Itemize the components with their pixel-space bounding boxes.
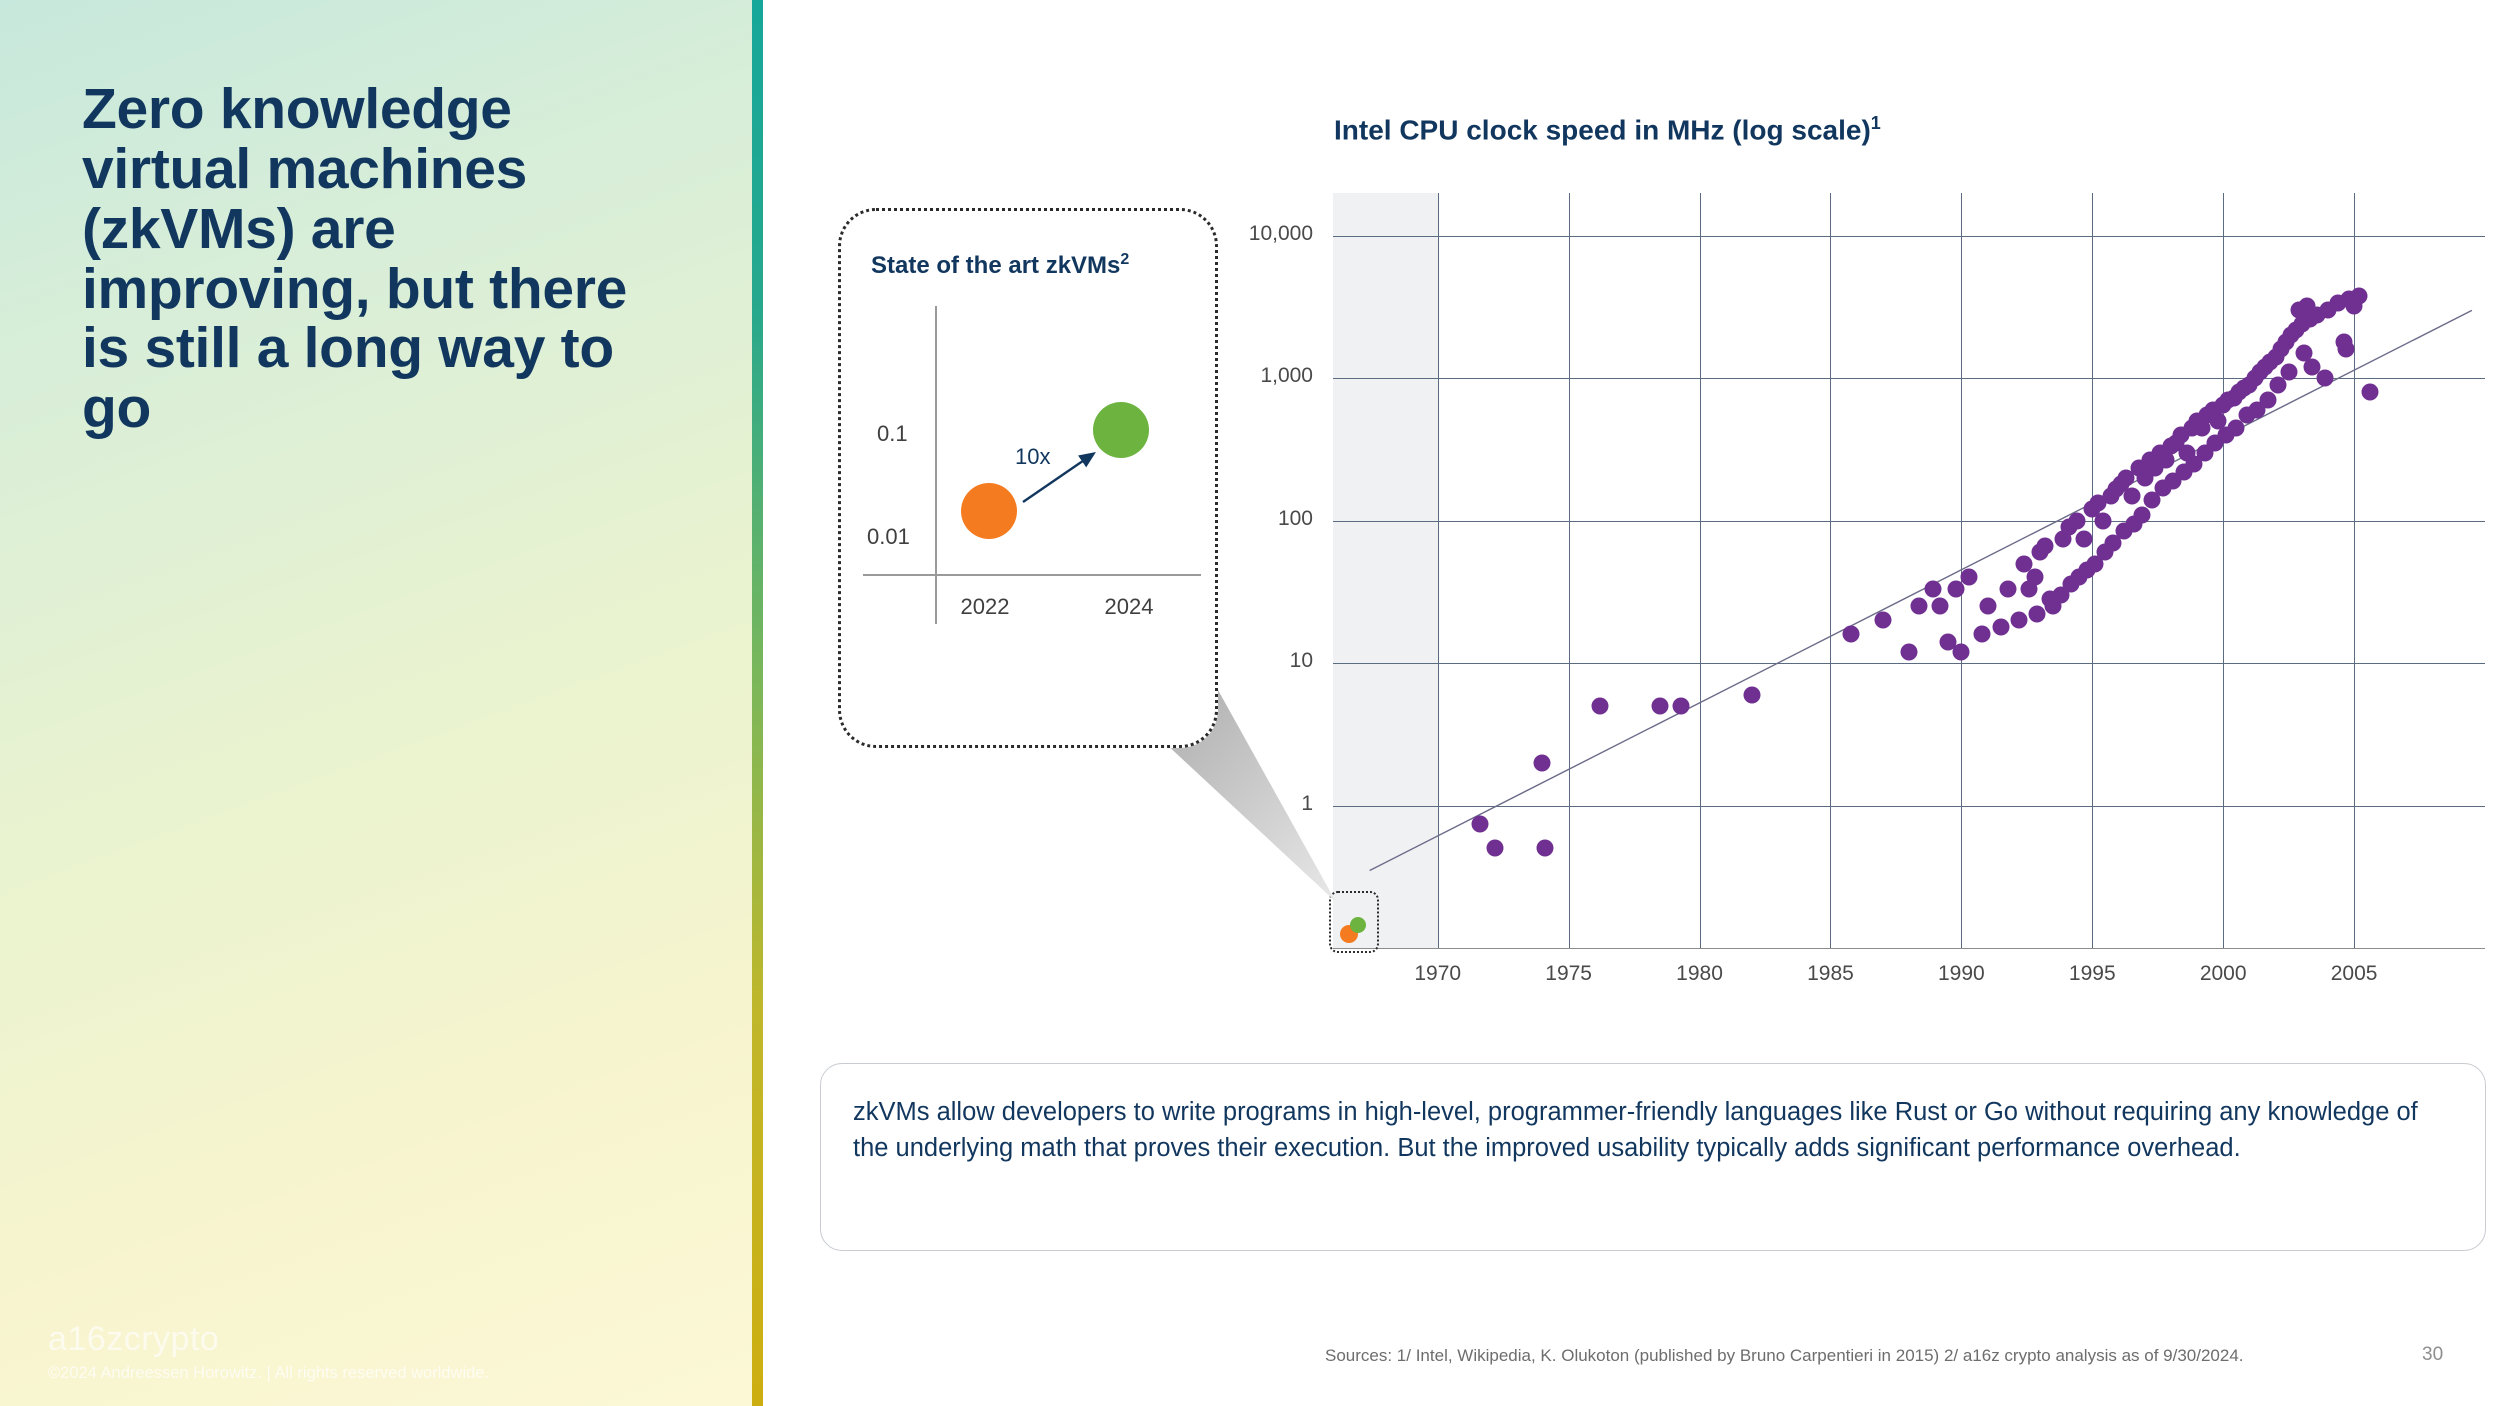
data-point bbox=[1924, 581, 1941, 598]
data-point bbox=[1940, 634, 1957, 651]
data-point bbox=[1592, 698, 1609, 715]
note-box: zkVMs allow developers to write programs… bbox=[820, 1063, 2486, 1251]
data-point bbox=[2144, 491, 2161, 508]
data-point bbox=[1652, 698, 1669, 715]
data-point bbox=[2346, 298, 2363, 315]
data-point bbox=[1992, 618, 2009, 635]
x-axis-tick-label: 1980 bbox=[1676, 962, 1723, 986]
chart-title: Intel CPU clock speed in MHz (log scale)… bbox=[1334, 113, 1881, 146]
x-axis-tick-label: 1995 bbox=[2069, 962, 2116, 986]
data-point bbox=[2361, 384, 2378, 401]
panel-divider-stripe bbox=[752, 0, 763, 1406]
x-axis-tick-label: 1990 bbox=[1938, 962, 1985, 986]
data-point bbox=[1974, 626, 1991, 643]
data-point bbox=[1843, 626, 1860, 643]
callout-box: State of the art zkVMs2 0.1 0.01 2022 20… bbox=[838, 208, 1218, 748]
data-point bbox=[2029, 606, 2046, 623]
x-axis-tick-label: 1985 bbox=[1807, 962, 1854, 986]
page-number: 30 bbox=[2422, 1344, 2443, 1366]
callout-title: State of the art zkVMs2 bbox=[871, 251, 1129, 280]
data-point bbox=[2076, 530, 2093, 547]
gridline-horizontal bbox=[1333, 378, 2485, 379]
callout-title-footnote-marker: 2 bbox=[1120, 251, 1129, 268]
data-point bbox=[2298, 298, 2315, 315]
gridline-horizontal bbox=[1333, 806, 2485, 807]
data-point bbox=[1534, 754, 1551, 771]
callout-title-text: State of the art zkVMs bbox=[871, 252, 1120, 279]
data-point bbox=[1743, 686, 1760, 703]
x-axis-tick-label: 2000 bbox=[2200, 962, 2247, 986]
data-point bbox=[2026, 569, 2043, 586]
x-axis-tick-label: 1975 bbox=[1545, 962, 1592, 986]
note-text: zkVMs allow developers to write programs… bbox=[853, 1094, 2453, 1166]
data-point bbox=[2338, 341, 2355, 358]
gridline-horizontal bbox=[1333, 236, 2485, 237]
data-point bbox=[1911, 598, 1928, 615]
data-point bbox=[1961, 569, 1978, 586]
sources-text: Sources: 1/ Intel, Wikipedia, K. Olukoto… bbox=[1325, 1346, 2244, 1366]
x-axis-labels: 19701975198019851990199520002005 bbox=[1333, 962, 2485, 1002]
gridline-vertical bbox=[1438, 193, 1439, 948]
left-panel: Zero knowledge virtual machines (zkVMs) … bbox=[0, 0, 752, 1406]
copyright-text: ©2024 Andreessen Horowitz. | All rights … bbox=[48, 1364, 489, 1383]
data-point bbox=[2094, 512, 2111, 529]
data-point bbox=[1979, 598, 1996, 615]
data-point bbox=[2037, 538, 2054, 555]
data-point bbox=[1948, 581, 1965, 598]
data-point bbox=[1673, 698, 1690, 715]
data-point bbox=[2010, 612, 2027, 629]
chart-title-text: Intel CPU clock speed in MHz (log scale) bbox=[1334, 114, 1871, 145]
data-point bbox=[2317, 370, 2334, 387]
y-axis-tick-label: 100 bbox=[1278, 507, 1313, 531]
y-axis-tick-label: 10 bbox=[1290, 649, 1313, 673]
page-title: Zero knowledge virtual machines (zkVMs) … bbox=[82, 80, 682, 439]
gridline-vertical bbox=[1700, 193, 1701, 948]
slide: Zero knowledge virtual machines (zkVMs) … bbox=[0, 0, 2500, 1406]
data-point bbox=[1537, 840, 1554, 857]
data-point bbox=[2000, 581, 2017, 598]
chart-title-footnote-marker: 1 bbox=[1871, 113, 1881, 133]
gridline-vertical bbox=[2223, 193, 2224, 948]
y-axis-tick-label: 10,000 bbox=[1249, 222, 1313, 246]
data-point bbox=[1932, 598, 1949, 615]
x-axis-tick-label: 1970 bbox=[1414, 962, 1461, 986]
data-point bbox=[2123, 487, 2140, 504]
data-point bbox=[2042, 591, 2059, 608]
data-point bbox=[2270, 376, 2287, 393]
inset-annotation-10x: 10x bbox=[1015, 444, 1050, 470]
data-point bbox=[1471, 816, 1488, 833]
inset-chart: 0.1 0.01 2022 2024 10x bbox=[863, 306, 1203, 641]
y-axis-tick-label: 1,000 bbox=[1260, 364, 1313, 388]
data-point bbox=[2296, 345, 2313, 362]
gridline-horizontal bbox=[1333, 521, 2485, 522]
data-point bbox=[1487, 840, 1504, 857]
gridline-vertical bbox=[1569, 193, 1570, 948]
data-point bbox=[1901, 643, 1918, 660]
gridline-horizontal bbox=[1333, 663, 2485, 664]
gridline-vertical bbox=[1830, 193, 1831, 948]
x-axis-line bbox=[1333, 948, 2485, 949]
brand-logo: a16zcrypto bbox=[48, 1320, 219, 1359]
scatter-plot bbox=[1333, 193, 2485, 948]
x-axis-tick-label: 2005 bbox=[2331, 962, 2378, 986]
data-point bbox=[1874, 612, 1891, 629]
data-point bbox=[2068, 512, 2085, 529]
